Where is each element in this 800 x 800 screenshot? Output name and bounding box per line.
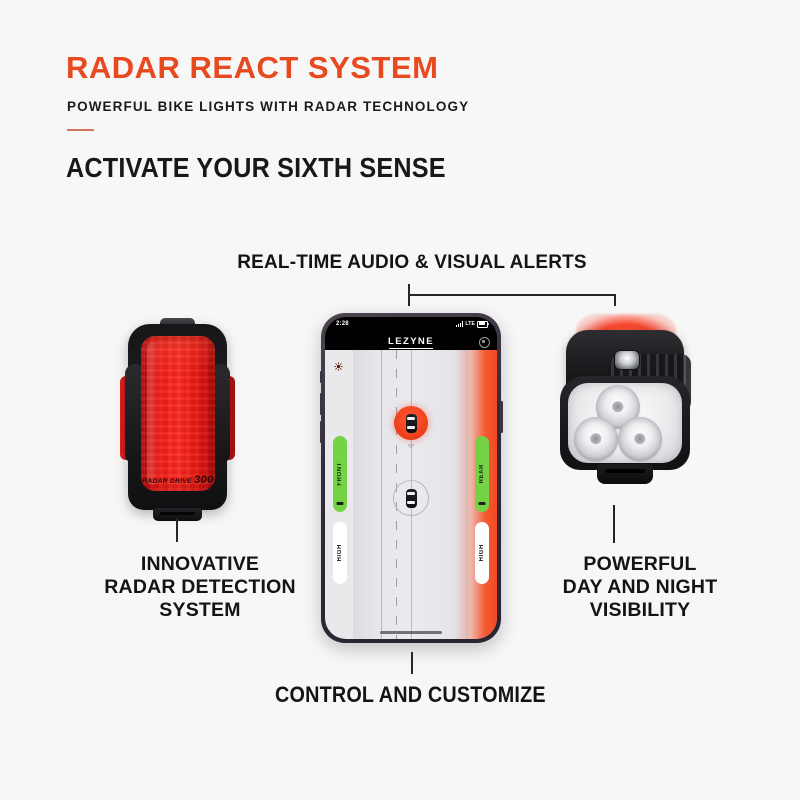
- callout-bottom-label: CONTROL AND CUSTOMIZE: [250, 682, 570, 708]
- status-bar-time: 2:28: [336, 321, 349, 327]
- car-alert-icon: [406, 414, 417, 433]
- bracket-right-tick: [614, 294, 616, 306]
- callout-right-line-1: POWERFUL: [530, 553, 750, 576]
- front-light-mount: [597, 464, 653, 484]
- smartphone-mockup: 2:28 LTE LEZYNE: [321, 313, 501, 643]
- phone-notch: [380, 317, 442, 331]
- bracket-left-tick: [408, 284, 410, 306]
- status-bar: 2:28 LTE: [325, 317, 497, 333]
- page-subtitle: POWERFUL BIKE LIGHTS WITH RADAR TECHNOLO…: [67, 99, 469, 114]
- front-light-led-bottom-left: [574, 417, 618, 461]
- sun-icon[interactable]: [334, 358, 343, 367]
- lane-line-left: [381, 350, 382, 639]
- app-header: LEZYNE: [325, 333, 497, 350]
- status-bar-indicators: LTE: [456, 321, 488, 328]
- network-type-label: LTE: [465, 321, 475, 327]
- phone-volume-down-button[interactable]: [320, 421, 323, 443]
- front-light-lens-housing: [568, 383, 682, 463]
- rear-light-toggle-label: REAR: [479, 464, 485, 483]
- rear-light-toggle[interactable]: REAR: [475, 436, 489, 512]
- battery-icon: [477, 321, 488, 328]
- front-light-toggle-label: FRONT: [337, 462, 343, 486]
- front-light-face: [560, 376, 690, 470]
- callout-right-line-3: VISIBILITY: [530, 599, 750, 622]
- front-light-led-bottom-right: [618, 417, 662, 461]
- rear-light-lens: [141, 336, 215, 491]
- front-light-mode-label: HIGH: [337, 544, 343, 561]
- app-radar-view: FRONT REAR HIGH HIGH: [325, 350, 497, 639]
- phone-power-button[interactable]: [500, 401, 503, 433]
- rear-light-product: RADAR DRIVE 300: [120, 318, 235, 523]
- phone-screen: 2:28 LTE LEZYNE: [325, 317, 497, 639]
- callout-right-label: POWERFUL DAY AND NIGHT VISIBILITY: [530, 553, 750, 622]
- rider-position-indicator: [393, 480, 429, 516]
- front-light-mode-button[interactable]: HIGH: [333, 522, 347, 584]
- phone-mute-switch[interactable]: [320, 371, 323, 383]
- front-light-top-lens: [614, 350, 640, 370]
- callout-top-label: REAL-TIME AUDIO & VISUAL ALERTS: [222, 252, 602, 274]
- leader-line-bottom: [411, 652, 413, 674]
- callout-left-line-2: RADAR DETECTION: [75, 576, 325, 599]
- page-title: RADAR REACT SYSTEM: [66, 50, 438, 86]
- front-light-product: [540, 314, 710, 514]
- vehicle-alert-indicator: [394, 406, 428, 440]
- callout-left-line-3: SYSTEM: [75, 599, 325, 622]
- section-headline: ACTIVATE YOUR SIXTH SENSE: [66, 152, 446, 184]
- signal-bars-icon: [456, 321, 464, 327]
- rear-light-mode-label: HIGH: [479, 544, 485, 561]
- callout-bottom-text: CONTROL AND CUSTOMIZE: [275, 682, 546, 708]
- front-light-toggle[interactable]: FRONT: [333, 436, 347, 512]
- infographic-canvas: RADAR REACT SYSTEM POWERFUL BIKE LIGHTS …: [0, 0, 800, 800]
- phone-volume-up-button[interactable]: [320, 393, 323, 415]
- home-indicator[interactable]: [380, 631, 442, 634]
- rear-light-model-name: RADAR DRIVE: [142, 478, 192, 485]
- bracket-horizontal-line: [408, 294, 616, 296]
- callout-left-line-1: INNOVATIVE: [75, 553, 325, 576]
- callout-left-label: INNOVATIVE RADAR DETECTION SYSTEM: [75, 553, 325, 622]
- callout-right-line-2: DAY AND NIGHT: [530, 576, 750, 599]
- rear-light-model-label: RADAR DRIVE 300: [141, 474, 215, 486]
- leader-line-left: [176, 518, 178, 542]
- divider-rule: [67, 129, 94, 131]
- leader-line-right: [613, 505, 615, 543]
- rider-position-icon: [406, 489, 417, 508]
- alert-direction-arrow: [407, 444, 415, 449]
- rear-light-mode-button[interactable]: HIGH: [475, 522, 489, 584]
- lezyne-logo-underline: [389, 348, 433, 349]
- gear-icon[interactable]: [479, 337, 490, 348]
- lezyne-logo: LEZYNE: [388, 336, 434, 347]
- rear-light-model-number: 300: [194, 474, 214, 486]
